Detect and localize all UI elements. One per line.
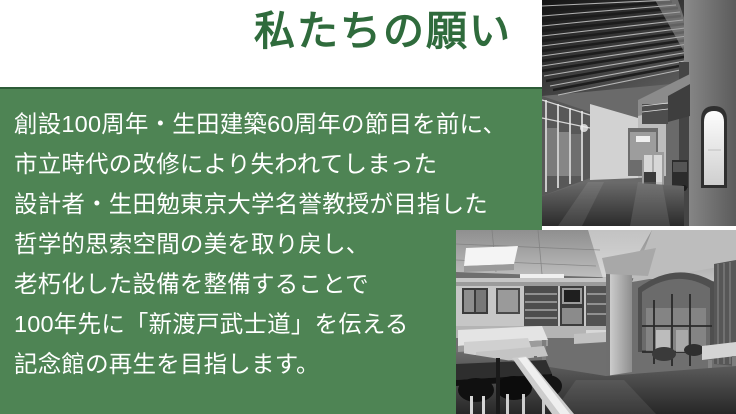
photo-interior-reading-room-graphic <box>456 230 736 414</box>
body-line: 設計者・生田勉東京大学名誉教授が目指した <box>14 184 484 224</box>
body-line: 市立時代の改修により失われてしまった <box>14 144 484 184</box>
page-title: 私たちの願い <box>0 6 530 57</box>
photo-interior-corridor-graphic <box>542 0 736 226</box>
body-line: 創設100周年・生田建築60周年の節目を前に、 <box>14 104 484 144</box>
body-line: 100年先に「新渡戸武士道」を伝える <box>14 304 484 344</box>
photo-interior-reading-room <box>456 230 736 414</box>
photo-interior-corridor <box>542 0 736 226</box>
body-line: 老朽化した設備を整備することで <box>14 264 484 304</box>
body-text-block: 創設100周年・生田建築60周年の節目を前に、 市立時代の改修により失われてしま… <box>14 104 484 384</box>
body-line: 記念館の再生を目指します。 <box>14 344 484 384</box>
body-line: 哲学的思索空間の美を取り戻し、 <box>14 224 484 264</box>
slide-canvas: 私たちの願い 創設100周年・生田建築60周年の節目を前に、 市立時代の改修によ… <box>0 0 736 414</box>
